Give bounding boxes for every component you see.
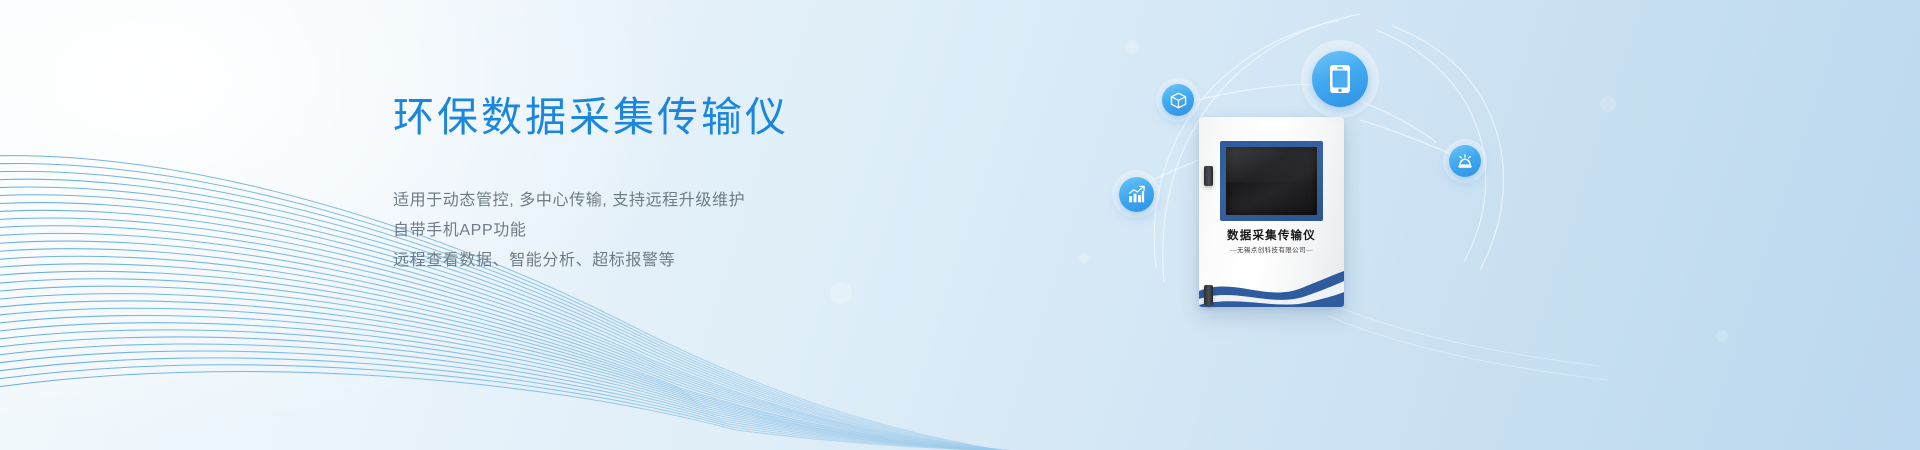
feature-item: 适用于动态管控, 多中心传输, 支持远程升级维护 [393,186,1013,216]
icon-circle [1312,51,1368,107]
device-company-label: —无锡点创科技有限公司— [1199,244,1344,254]
icon-circle [1449,145,1481,177]
cube-box-icon[interactable] [1156,78,1200,122]
mobile-phone-glyph [1327,64,1353,94]
feature-item: 远程查看数据、智能分析、超标报警等 [393,246,1013,276]
decorative-blob [437,278,446,287]
device-footer-wave [1199,261,1344,307]
icon-circle [1162,84,1194,116]
decorative-blob [830,282,852,304]
mobile-phone-icon[interactable] [1301,40,1379,118]
cube-box-glyph [1170,92,1187,109]
device-side-connector [1204,285,1213,305]
page-title: 环保数据采集传输仪 [393,95,1013,140]
feature-list: 适用于动态管控, 多中心传输, 支持远程升级维护 自带手机APP功能 远程查看数… [393,186,1013,276]
device-screen [1226,147,1317,215]
product-hero-banner: 环保数据采集传输仪 适用于动态管控, 多中心传输, 支持远程升级维护 自带手机A… [0,0,1920,450]
alarm-siren-glyph [1456,152,1474,170]
alarm-siren-icon[interactable] [1443,139,1487,183]
decorative-blob [1716,330,1728,342]
bar-chart-growth-icon[interactable] [1112,170,1160,218]
product-scene: 数据采集传输仪 —无锡点创科技有限公司— [1060,0,1620,450]
icon-circle [1119,177,1154,212]
device-brand-label: 数据采集传输仪 [1199,227,1344,243]
feature-item: 自带手机APP功能 [393,216,1013,246]
data-acquisition-device: 数据采集传输仪 —无锡点创科技有限公司— [1199,117,1344,307]
bar-chart-growth-glyph [1127,185,1146,204]
device-side-connector [1204,166,1213,186]
hero-copy: 环保数据采集传输仪 适用于动态管控, 多中心传输, 支持远程升级维护 自带手机A… [393,95,1013,276]
device-display-bezel [1220,141,1323,221]
